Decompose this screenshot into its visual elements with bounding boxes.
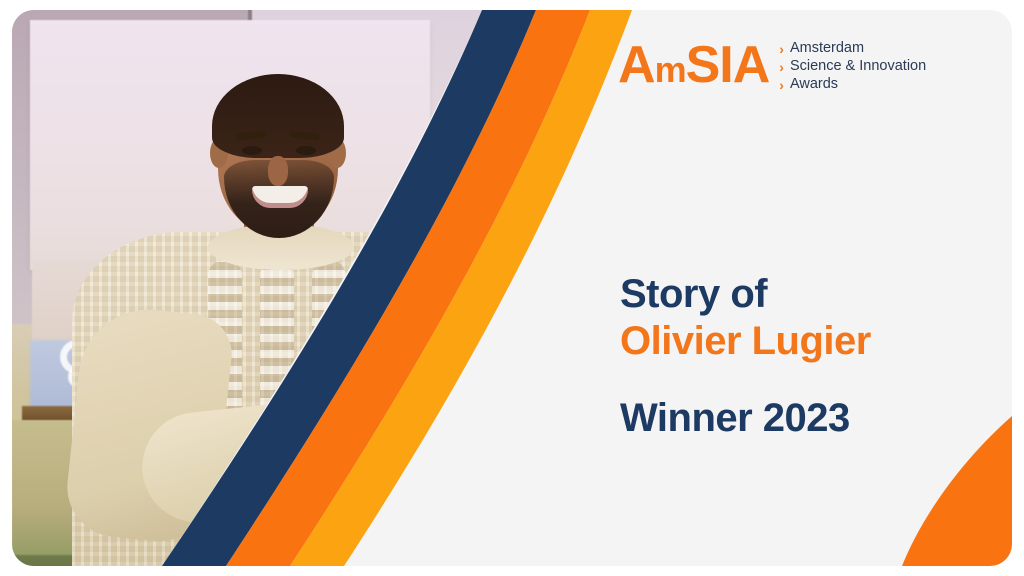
logo-letter-m: m xyxy=(655,49,686,90)
eye xyxy=(242,146,262,155)
tagline-row: › Awards xyxy=(779,76,926,93)
logo-letters-sia: SIA xyxy=(686,36,770,94)
tagline-text-awards: Awards xyxy=(790,76,838,93)
radiator xyxy=(187,508,387,566)
logo-tagline: › Amsterdam › Science & Innovation › Awa… xyxy=(779,37,926,93)
logo-wordmark: AmSIA xyxy=(618,39,769,91)
chevron-right-icon: › xyxy=(779,78,784,92)
amsia-logo[interactable]: AmSIA › Amsterdam › Science & Innovation… xyxy=(618,37,926,93)
chevron-right-icon: › xyxy=(779,42,784,56)
speaker-photo xyxy=(12,10,572,566)
fingers xyxy=(321,467,419,534)
tagline-text-amsterdam: Amsterdam xyxy=(790,40,864,57)
tagline-row: › Amsterdam xyxy=(779,40,926,57)
slide-card: AmSIA › Amsterdam › Science & Innovation… xyxy=(12,10,1012,566)
corner-accent-shape xyxy=(902,416,1012,566)
sweater-cable xyxy=(260,260,294,566)
chevron-right-icon: › xyxy=(779,60,784,74)
person-figure xyxy=(12,10,572,566)
nose xyxy=(268,156,288,186)
title-line-story-of: Story of xyxy=(620,272,871,317)
tagline-text-science: Science & Innovation xyxy=(790,58,926,75)
hand xyxy=(310,460,419,539)
slide-canvas: AmSIA › Amsterdam › Science & Innovation… xyxy=(0,0,1024,576)
title-line-winner-name: Olivier Lugier xyxy=(620,319,871,364)
title-block: Story of Olivier Lugier Winner 2023 xyxy=(620,272,871,440)
hand xyxy=(323,426,432,525)
hair xyxy=(212,74,344,158)
eye xyxy=(296,146,316,155)
tagline-row: › Science & Innovation xyxy=(779,58,926,75)
sweater-cuff xyxy=(292,419,357,521)
smiling-mouth xyxy=(252,186,308,208)
sweater-cable xyxy=(312,260,346,566)
logo-letter-a: A xyxy=(618,36,655,94)
title-line-winner-year: Winner 2023 xyxy=(620,396,871,441)
